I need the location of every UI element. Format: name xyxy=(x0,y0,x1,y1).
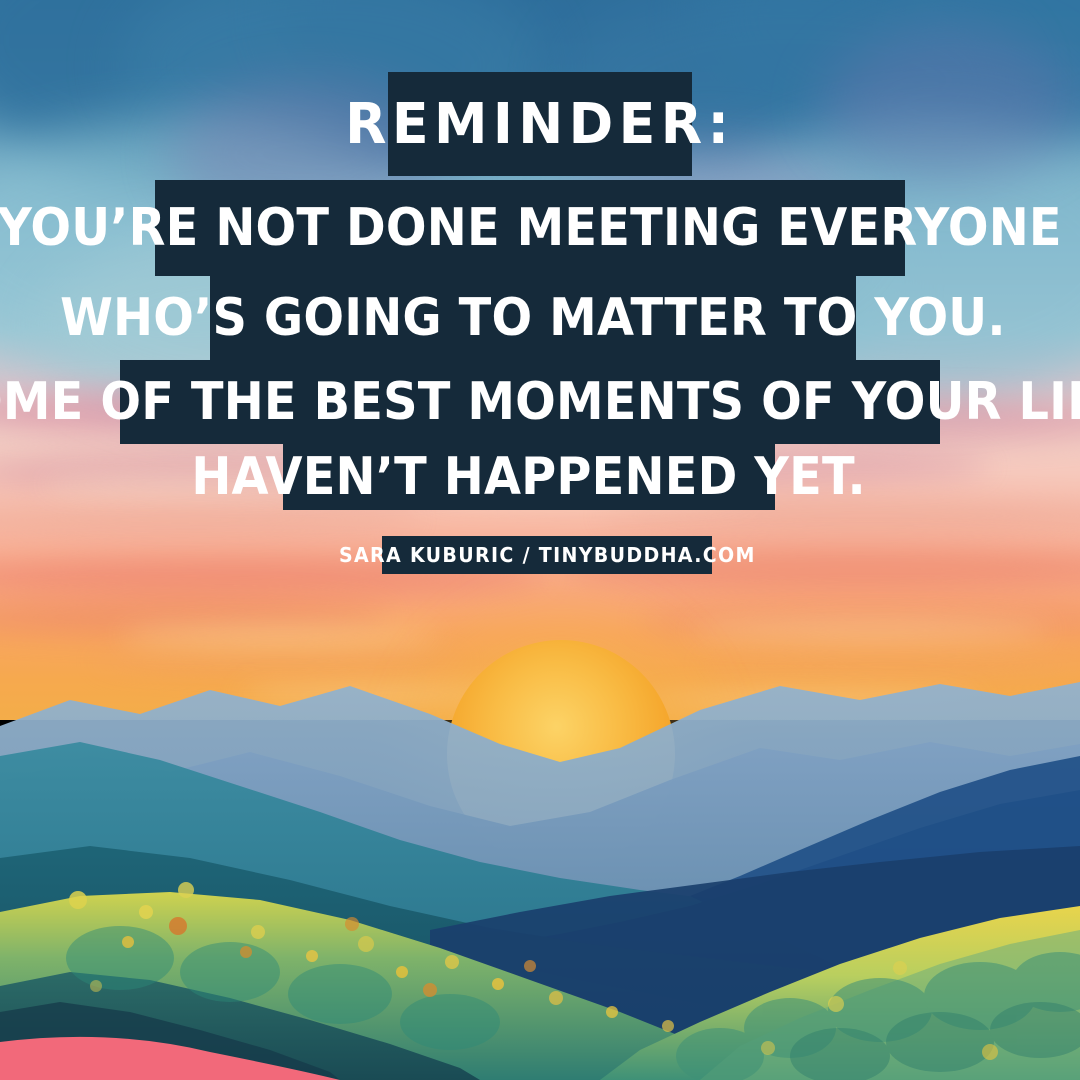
quote-line-band-3: SOME OF THE BEST MOMENTS OF YOUR LIFE xyxy=(120,360,940,444)
quote-line-2: WHO’S GOING TO MATTER TO YOU. xyxy=(60,288,1006,348)
attribution-text: SARA KUBURIC / TINYBUDDHA.COM xyxy=(339,543,756,567)
attribution-band: SARA KUBURIC / TINYBUDDHA.COM xyxy=(382,536,712,574)
quote-line-band-1: YOU’RE NOT DONE MEETING EVERYONE xyxy=(155,180,905,276)
quote-line-4: HAVEN’T HAPPENED YET. xyxy=(192,447,867,507)
quote-poster: REMINDER: YOU’RE NOT DONE MEETING EVERYO… xyxy=(0,0,1080,1080)
quote-line-3: SOME OF THE BEST MOMENTS OF YOUR LIFE xyxy=(0,372,1080,432)
quote-line-1: YOU’RE NOT DONE MEETING EVERYONE xyxy=(0,198,1062,258)
reminder-title: REMINDER: xyxy=(345,92,734,157)
quote-line-band-4: HAVEN’T HAPPENED YET. xyxy=(283,444,775,510)
reminder-title-band: REMINDER: xyxy=(388,72,692,176)
quote-line-band-2: WHO’S GOING TO MATTER TO YOU. xyxy=(210,276,856,360)
